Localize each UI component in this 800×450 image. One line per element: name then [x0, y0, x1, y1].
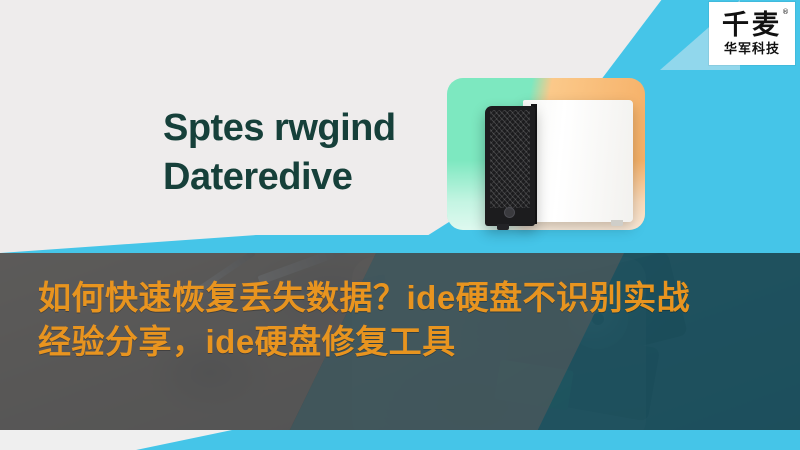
brand-logo: 千麦 ® 华军科技: [709, 2, 795, 65]
article-cover: Sptes rwgind Dateredive 如何快速恢复丢失数据？ide硬盘…: [0, 0, 800, 450]
footer-band: [0, 430, 800, 450]
trademark-icon: ®: [782, 9, 789, 16]
drive-body: [523, 100, 633, 222]
logo-brand-label: 千麦: [722, 10, 782, 41]
article-title: 如何快速恢复丢失数据？ide硬盘不识别实战经验分享，ide硬盘修复工具: [38, 276, 698, 363]
drive-foot-right: [611, 220, 623, 226]
drive-foot-left: [497, 224, 509, 230]
logo-subtitle: 华军科技: [724, 43, 780, 56]
drive-led-icon: [504, 207, 515, 218]
lower-section: 如何快速恢复丢失数据？ide硬盘不识别实战经验分享，ide硬盘修复工具: [0, 253, 800, 450]
logo-brand-text: 千麦 ®: [722, 12, 782, 39]
external-hard-drive-image: [485, 98, 633, 226]
hero-headline: Sptes rwgind Dateredive: [163, 104, 396, 201]
footer-cyan-diagonal: [0, 430, 800, 450]
drive-front-panel: [485, 106, 535, 226]
hero-base-cyan-band: [0, 235, 800, 253]
hero-banner: Sptes rwgind Dateredive: [0, 0, 800, 253]
